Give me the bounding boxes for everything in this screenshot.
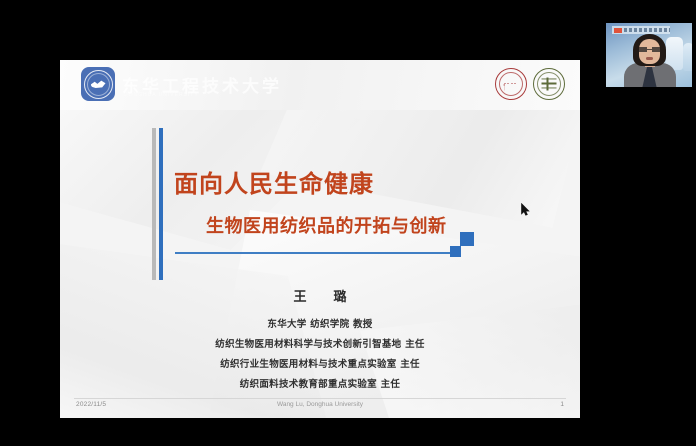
presenter-video-thumbnail[interactable]	[605, 22, 693, 88]
title-accent-bar-gray	[152, 128, 156, 280]
seal-glyph	[542, 78, 557, 91]
webcam-overlay-banner	[612, 26, 670, 34]
mouse-pointer-icon	[521, 203, 530, 216]
presenter-affiliation: 纺织行业生物医用材料与技术重点实验室 主任	[60, 356, 580, 370]
accent-square-large	[460, 232, 474, 246]
presenter-affiliation: 东华大学 纺织学院 教授	[60, 316, 580, 330]
presenter-affiliation: 纺织面料技术教育部重点实验室 主任	[60, 376, 580, 390]
accent-square-small	[450, 246, 461, 257]
university-logo-icon	[81, 67, 115, 101]
presenter-mouth	[646, 57, 653, 60]
presenter-affiliation: 纺织生物医用材料科学与技术创新引智基地 主任	[60, 336, 580, 350]
banner-text-glyphs	[624, 28, 670, 32]
background-object	[683, 43, 693, 71]
logo-bird-glyph	[91, 80, 106, 88]
presenter-name: 王 璐	[60, 286, 580, 305]
footer-page-number: 1	[560, 401, 564, 408]
slide-header-band: 东华工程技术大学 DONGHUA UNIVERSITY	[60, 60, 580, 110]
header-watermark-subtitle: DONGHUA UNIVERSITY	[124, 92, 199, 98]
green-seal-icon	[533, 68, 565, 100]
footer-divider	[74, 398, 566, 399]
banner-logo-icon	[614, 28, 622, 33]
presentation-slide[interactable]: 东华工程技术大学 DONGHUA UNIVERSITY 面向人民生命健康 生物医…	[60, 60, 580, 418]
glasses-icon	[639, 47, 660, 52]
logo-ring	[84, 70, 113, 99]
slide-title-main: 面向人民生命健康	[174, 164, 374, 199]
title-underline	[175, 252, 457, 254]
video-playback-screen: 东华工程技术大学 DONGHUA UNIVERSITY 面向人民生命健康 生物医…	[0, 0, 696, 446]
title-accent-bar-blue	[159, 128, 163, 280]
red-seal-icon	[495, 68, 527, 100]
slide-title-sub: 生物医用纺织品的开拓与创新	[206, 212, 447, 238]
footer-attribution: Wang Lu, Donghua University	[60, 401, 580, 408]
